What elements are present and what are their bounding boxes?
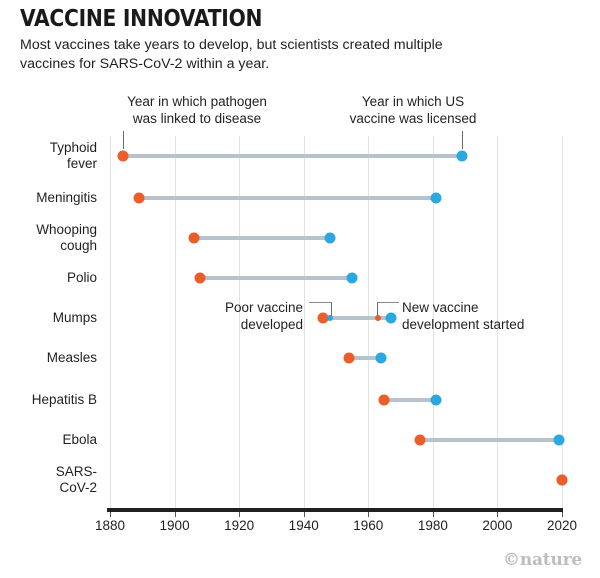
y-axis-label-sars-cov-2: SARS- CoV-2 xyxy=(56,464,97,496)
x-axis-label: 2020 xyxy=(547,518,577,533)
pathogen-linked-dot xyxy=(557,475,568,486)
vaccine-licensed-dot xyxy=(385,313,396,324)
vaccine-licensed-dot xyxy=(553,435,564,446)
x-axis-tick xyxy=(368,512,369,517)
x-axis-tick xyxy=(304,512,305,517)
range-connector xyxy=(123,154,462,158)
y-axis-label-meningitis: Meningitis xyxy=(36,190,97,206)
pathogen-linked-dot xyxy=(379,395,390,406)
gridline xyxy=(110,136,111,508)
x-axis-label: 1980 xyxy=(418,518,448,533)
gridline xyxy=(304,136,305,508)
vaccine-licensed-dot xyxy=(431,395,442,406)
leader-poor-vaccine-v xyxy=(331,302,332,316)
x-axis-label: 1920 xyxy=(224,518,254,533)
range-connector xyxy=(200,276,352,280)
pathogen-linked-dot xyxy=(134,193,145,204)
range-connector xyxy=(420,438,559,442)
x-axis-label: 2000 xyxy=(482,518,512,533)
plot-area: 18801900192019401960198020002020Typhoid … xyxy=(0,0,600,578)
y-axis-label-measles: Measles xyxy=(47,350,97,366)
annotation-new-development: New vaccine development started xyxy=(402,299,582,333)
pathogen-linked-dot xyxy=(343,353,354,364)
vaccine-licensed-dot xyxy=(456,151,467,162)
y-axis-label-ebola: Ebola xyxy=(62,432,97,448)
gridline xyxy=(368,136,369,508)
vaccine-licensed-dot xyxy=(347,273,358,284)
leader-vaccine-licensed xyxy=(462,131,463,149)
range-connector xyxy=(384,398,436,402)
gridline xyxy=(175,136,176,508)
x-axis-label: 1900 xyxy=(160,518,190,533)
annotation-pathogen-linked: Year in which pathogen was linked to dis… xyxy=(97,93,297,127)
vaccine-licensed-dot xyxy=(376,353,387,364)
x-axis-label: 1940 xyxy=(289,518,319,533)
range-connector xyxy=(139,196,436,200)
leader-poor-vaccine-h xyxy=(309,302,331,303)
vaccine-licensed-dot xyxy=(431,193,442,204)
pathogen-linked-dot xyxy=(117,151,128,162)
x-axis-tick xyxy=(433,512,434,517)
x-axis-tick xyxy=(497,512,498,517)
x-axis-tick xyxy=(562,512,563,517)
range-connector xyxy=(194,236,330,240)
y-axis-label-hepatitis-b: Hepatitis B xyxy=(32,392,97,408)
x-axis-label: 1880 xyxy=(95,518,125,533)
leader-new-development-h xyxy=(377,302,399,303)
pathogen-linked-dot xyxy=(414,435,425,446)
x-axis-tick xyxy=(175,512,176,517)
pathogen-linked-dot xyxy=(188,233,199,244)
annotation-poor-vaccine: Poor vaccine developed xyxy=(193,299,303,333)
y-axis-label-typhoid-fever: Typhoid fever xyxy=(50,140,97,172)
y-axis-label-whooping-cough: Whooping cough xyxy=(36,222,97,254)
pathogen-linked-dot xyxy=(195,273,206,284)
x-axis-tick xyxy=(239,512,240,517)
y-axis-label-mumps: Mumps xyxy=(53,310,97,326)
leader-pathogen-linked xyxy=(123,131,124,149)
y-axis-label-polio: Polio xyxy=(67,270,97,286)
vaccine-licensed-dot xyxy=(324,233,335,244)
leader-new-development-v xyxy=(377,302,378,316)
vaccine-innovation-chart: VACCINE INNOVATION Most vaccines take ye… xyxy=(0,0,600,578)
x-axis-label: 1960 xyxy=(353,518,383,533)
x-axis-tick xyxy=(110,512,111,517)
nature-logo: ©nature xyxy=(503,550,582,570)
annotation-vaccine-licensed: Year in which US vaccine was licensed xyxy=(323,93,503,127)
